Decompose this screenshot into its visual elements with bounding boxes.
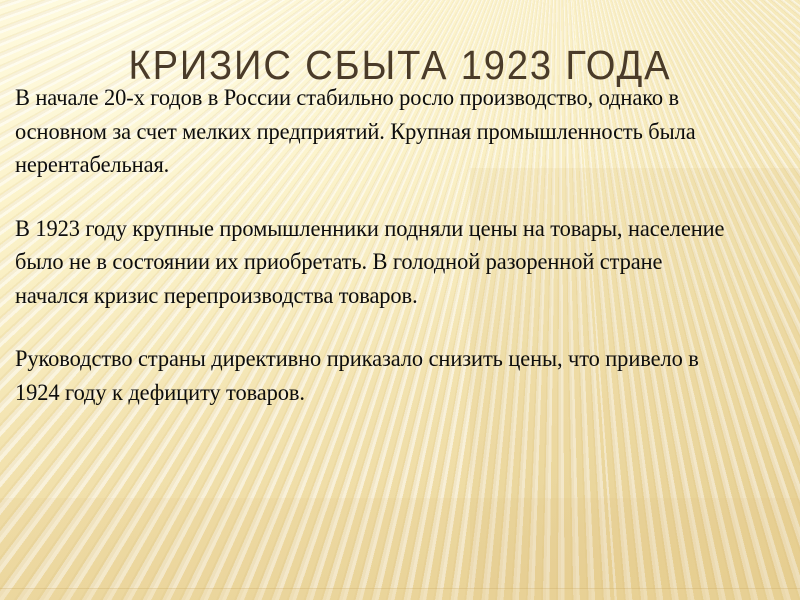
slide: КРИЗИС СБЫТА 1923 ГОДА В начале 20-х год… bbox=[0, 0, 800, 600]
slide-content: КРИЗИС СБЫТА 1923 ГОДА В начале 20-х год… bbox=[0, 0, 800, 600]
slide-body: В начале 20-х годов в России стабильно р… bbox=[15, 82, 771, 410]
body-paragraph-2: В 1923 году крупные промышленники поднял… bbox=[15, 213, 737, 314]
body-paragraph-3: Руководство страны директивно приказало … bbox=[15, 343, 737, 410]
body-paragraph-1: В начале 20-х годов в России стабильно р… bbox=[15, 82, 737, 183]
